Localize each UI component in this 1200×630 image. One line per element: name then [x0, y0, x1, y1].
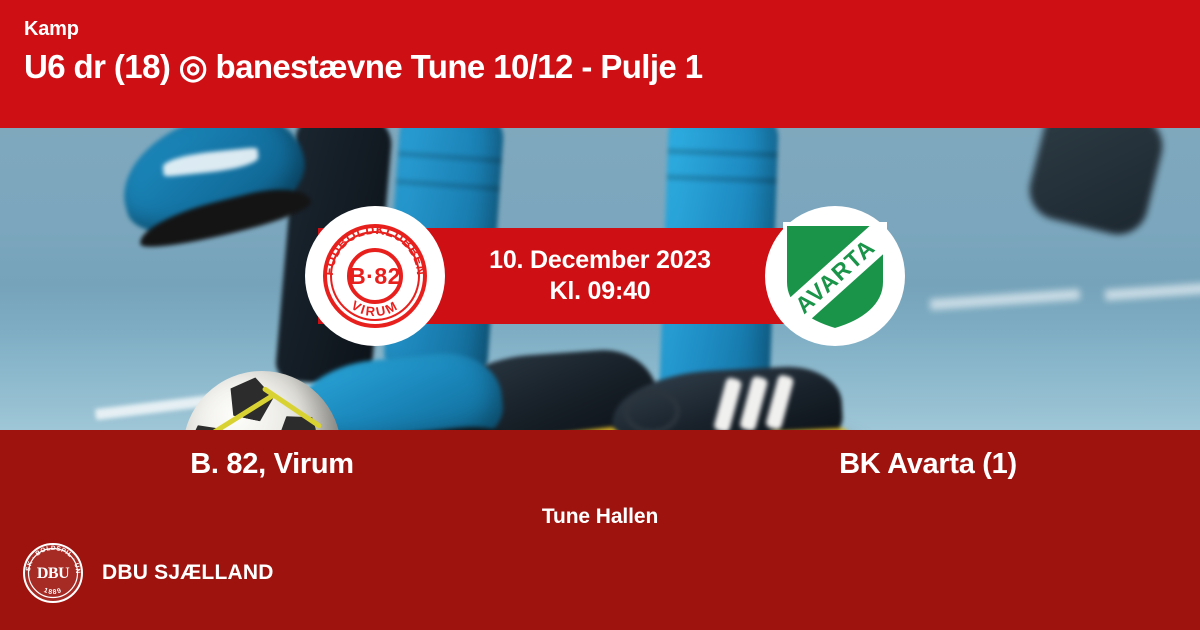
- away-team-name: BK Avarta (1): [600, 448, 1200, 481]
- venue-name: Tune Hallen: [0, 505, 1200, 529]
- team-names-row: B. 82, Virum BK Avarta (1): [0, 448, 1200, 481]
- fc-b82-virum-logo-icon: FODBOLDKLUBBEN VIRUM B·82: [313, 214, 437, 338]
- match-poster: Kamp U6 dr (18) ◎ banestævne Tune 10/12 …: [0, 0, 1200, 630]
- shoe-stripe: [162, 147, 260, 177]
- dbu-org-label: DBU SJÆLLAND: [102, 561, 274, 585]
- sock-ring: [396, 179, 500, 192]
- shoe-stripe: [713, 377, 742, 430]
- bk-avarta-logo-icon: AVARTA: [779, 218, 891, 334]
- svg-text:DBU: DBU: [37, 565, 70, 582]
- dbu-emblem-icon: DANSK · BOLDSPIL · UNION 1889 DBU: [22, 542, 84, 604]
- sock-ring: [398, 151, 502, 164]
- svg-text:B·82: B·82: [349, 263, 401, 289]
- shoe-stripe: [765, 374, 794, 430]
- futsal-photo: SELECT: [0, 128, 1200, 430]
- sock-ring: [667, 174, 777, 184]
- shoe-lace: [623, 388, 681, 430]
- poster-header: Kamp U6 dr (18) ◎ banestævne Tune 10/12 …: [0, 0, 1200, 128]
- hero-photo: SELECT 10. December 2023 Kl. 09:40: [0, 128, 1200, 430]
- sock-ring: [668, 148, 778, 158]
- shoe-stripe: [739, 375, 768, 430]
- away-club-crest: AVARTA: [765, 206, 905, 346]
- player-sock: [659, 128, 779, 404]
- header-kicker: Kamp: [24, 18, 1176, 40]
- page-title: U6 dr (18) ◎ banestævne Tune 10/12 - Pul…: [24, 48, 1176, 87]
- dbu-branding: DANSK · BOLDSPIL · UNION 1889 DBU DBU SJ…: [22, 542, 274, 604]
- home-team-name: B. 82, Virum: [0, 448, 600, 481]
- home-club-crest: FODBOLDKLUBBEN VIRUM B·82: [305, 206, 445, 346]
